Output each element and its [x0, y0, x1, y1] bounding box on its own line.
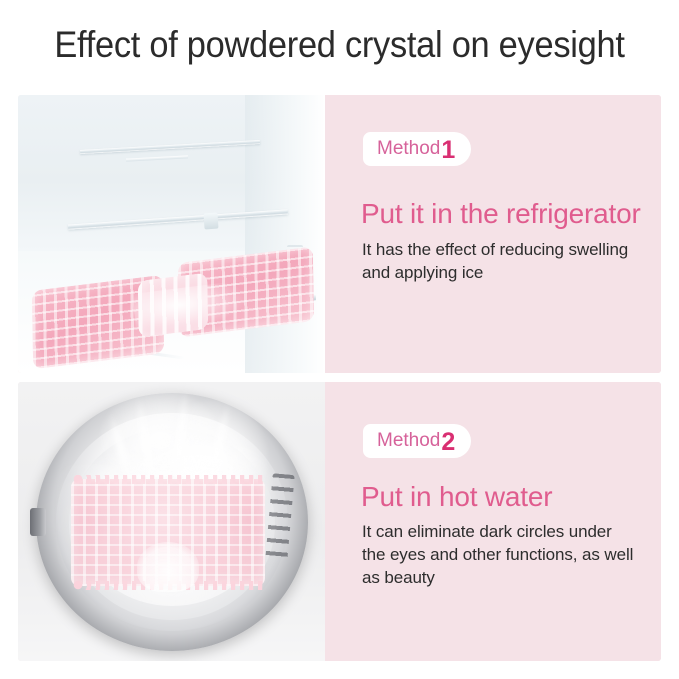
method-1-heading: Put it in the refrigerator: [361, 197, 647, 231]
method-2-badge-number: 2: [441, 430, 455, 455]
method-1-badge: Method 1: [363, 132, 471, 166]
method-2-heading: Put in hot water: [361, 480, 647, 514]
page-title: Effect of powdered crystal on eyesight: [24, 22, 655, 68]
method-card-1: Method 1 Put it in the refrigerator It h…: [18, 95, 661, 373]
mask-steam-veil: [57, 463, 279, 603]
method-2-body: It can eliminate dark circles under the …: [362, 520, 636, 589]
hot-water-photo: [18, 382, 325, 661]
method-2-badge: Method 2: [363, 424, 471, 458]
gel-eye-mask-hot: [71, 479, 265, 586]
fridge-interior-illustration: [18, 95, 325, 373]
fridge-shelf-bracket: [203, 213, 218, 230]
method-1-body: It has the effect of reducing swelling a…: [362, 238, 640, 284]
pot-illustration: [18, 382, 325, 661]
method-1-text-panel: Method 1 Put it in the refrigerator It h…: [325, 95, 661, 373]
method-2-text-panel: Method 2 Put in hot water It can elimina…: [325, 382, 661, 661]
method-2-badge-word: Method: [377, 430, 440, 452]
method-card-2: Method 2 Put in hot water It can elimina…: [18, 382, 661, 661]
method-1-badge-word: Method: [377, 138, 440, 160]
pot-handle: [30, 508, 46, 536]
method-1-badge-number: 1: [441, 138, 455, 163]
refrigerator-photo: [18, 95, 325, 373]
gel-eye-mask-cold: [26, 253, 318, 363]
